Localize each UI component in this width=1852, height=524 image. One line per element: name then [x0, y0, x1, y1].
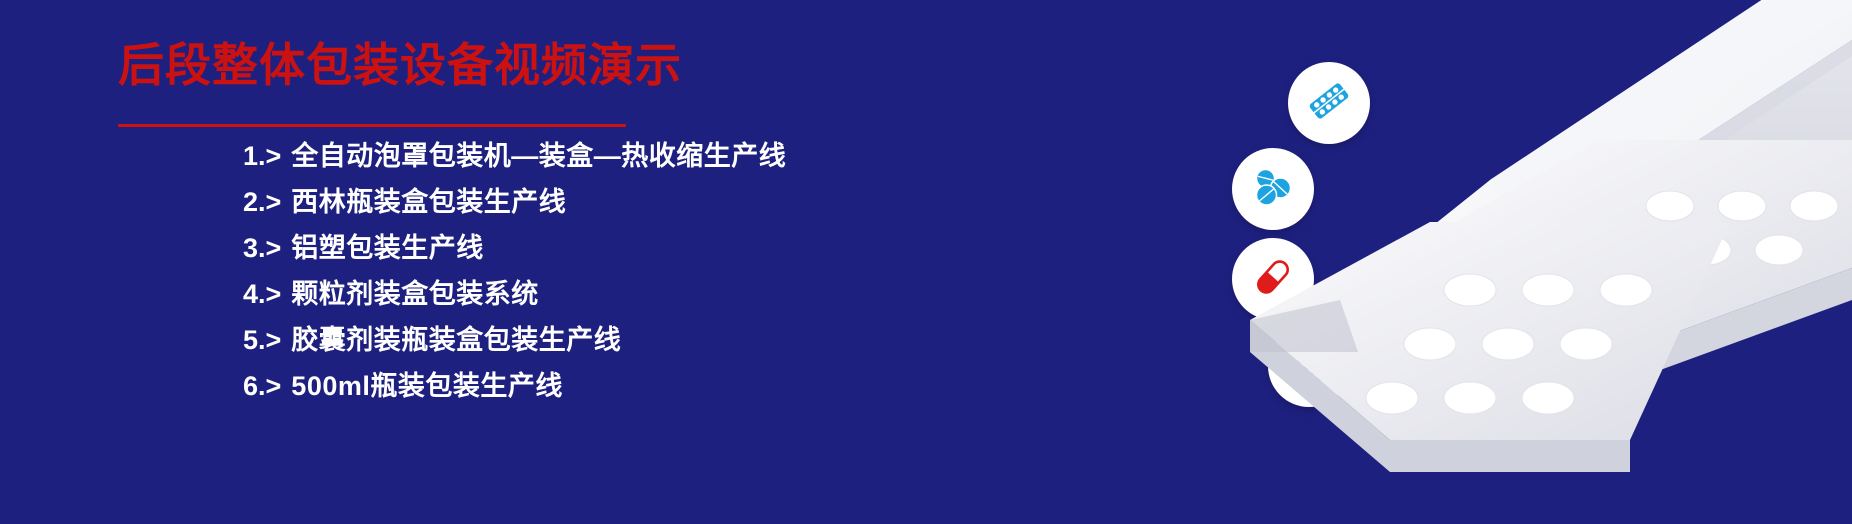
list-item-label: 西林瓶装盒包装生产线	[291, 180, 566, 219]
list-item-label: 全自动泡罩包装机—装盒—热收缩生产线	[291, 134, 786, 173]
list-item[interactable]: 2.> 西林瓶装盒包装生产线	[243, 180, 786, 226]
list-item[interactable]: 5.> 胶囊剂装瓶装盒包装生产线	[243, 318, 786, 364]
page-title: 后段整体包装设备视频演示	[118, 38, 682, 93]
list-item-index: 6.>	[243, 371, 281, 402]
list-item-index: 5.>	[243, 325, 281, 356]
video-list: 1.> 全自动泡罩包装机—装盒—热收缩生产线 2.> 西林瓶装盒包装生产线 3.…	[243, 134, 786, 410]
text-content: 后段整体包装设备视频演示 1.> 全自动泡罩包装机—装盒—热收缩生产线 2.> …	[0, 0, 1000, 524]
list-item[interactable]: 1.> 全自动泡罩包装机—装盒—热收缩生产线	[243, 134, 786, 180]
list-item-index: 4.>	[243, 279, 281, 310]
title-underline	[118, 124, 626, 127]
list-item[interactable]: 4.> 颗粒剂装盒包装系统	[243, 272, 786, 318]
list-item-index: 1.>	[243, 141, 281, 172]
list-item[interactable]: 3.> 铝塑包装生产线	[243, 226, 786, 272]
carton-with-blister-trays-illustration	[1130, 0, 1852, 524]
list-item[interactable]: 6.> 500ml瓶装包装生产线	[243, 364, 786, 410]
list-item-label: 铝塑包装生产线	[291, 226, 484, 265]
list-item-label: 500ml瓶装包装生产线	[291, 364, 563, 403]
list-item-label: 胶囊剂装瓶装盒包装生产线	[291, 318, 621, 357]
list-item-label: 颗粒剂装盒包装系统	[291, 272, 539, 311]
list-item-index: 3.>	[243, 233, 281, 264]
promo-banner: 后段整体包装设备视频演示 1.> 全自动泡罩包装机—装盒—热收缩生产线 2.> …	[0, 0, 1852, 524]
list-item-index: 2.>	[243, 187, 281, 218]
